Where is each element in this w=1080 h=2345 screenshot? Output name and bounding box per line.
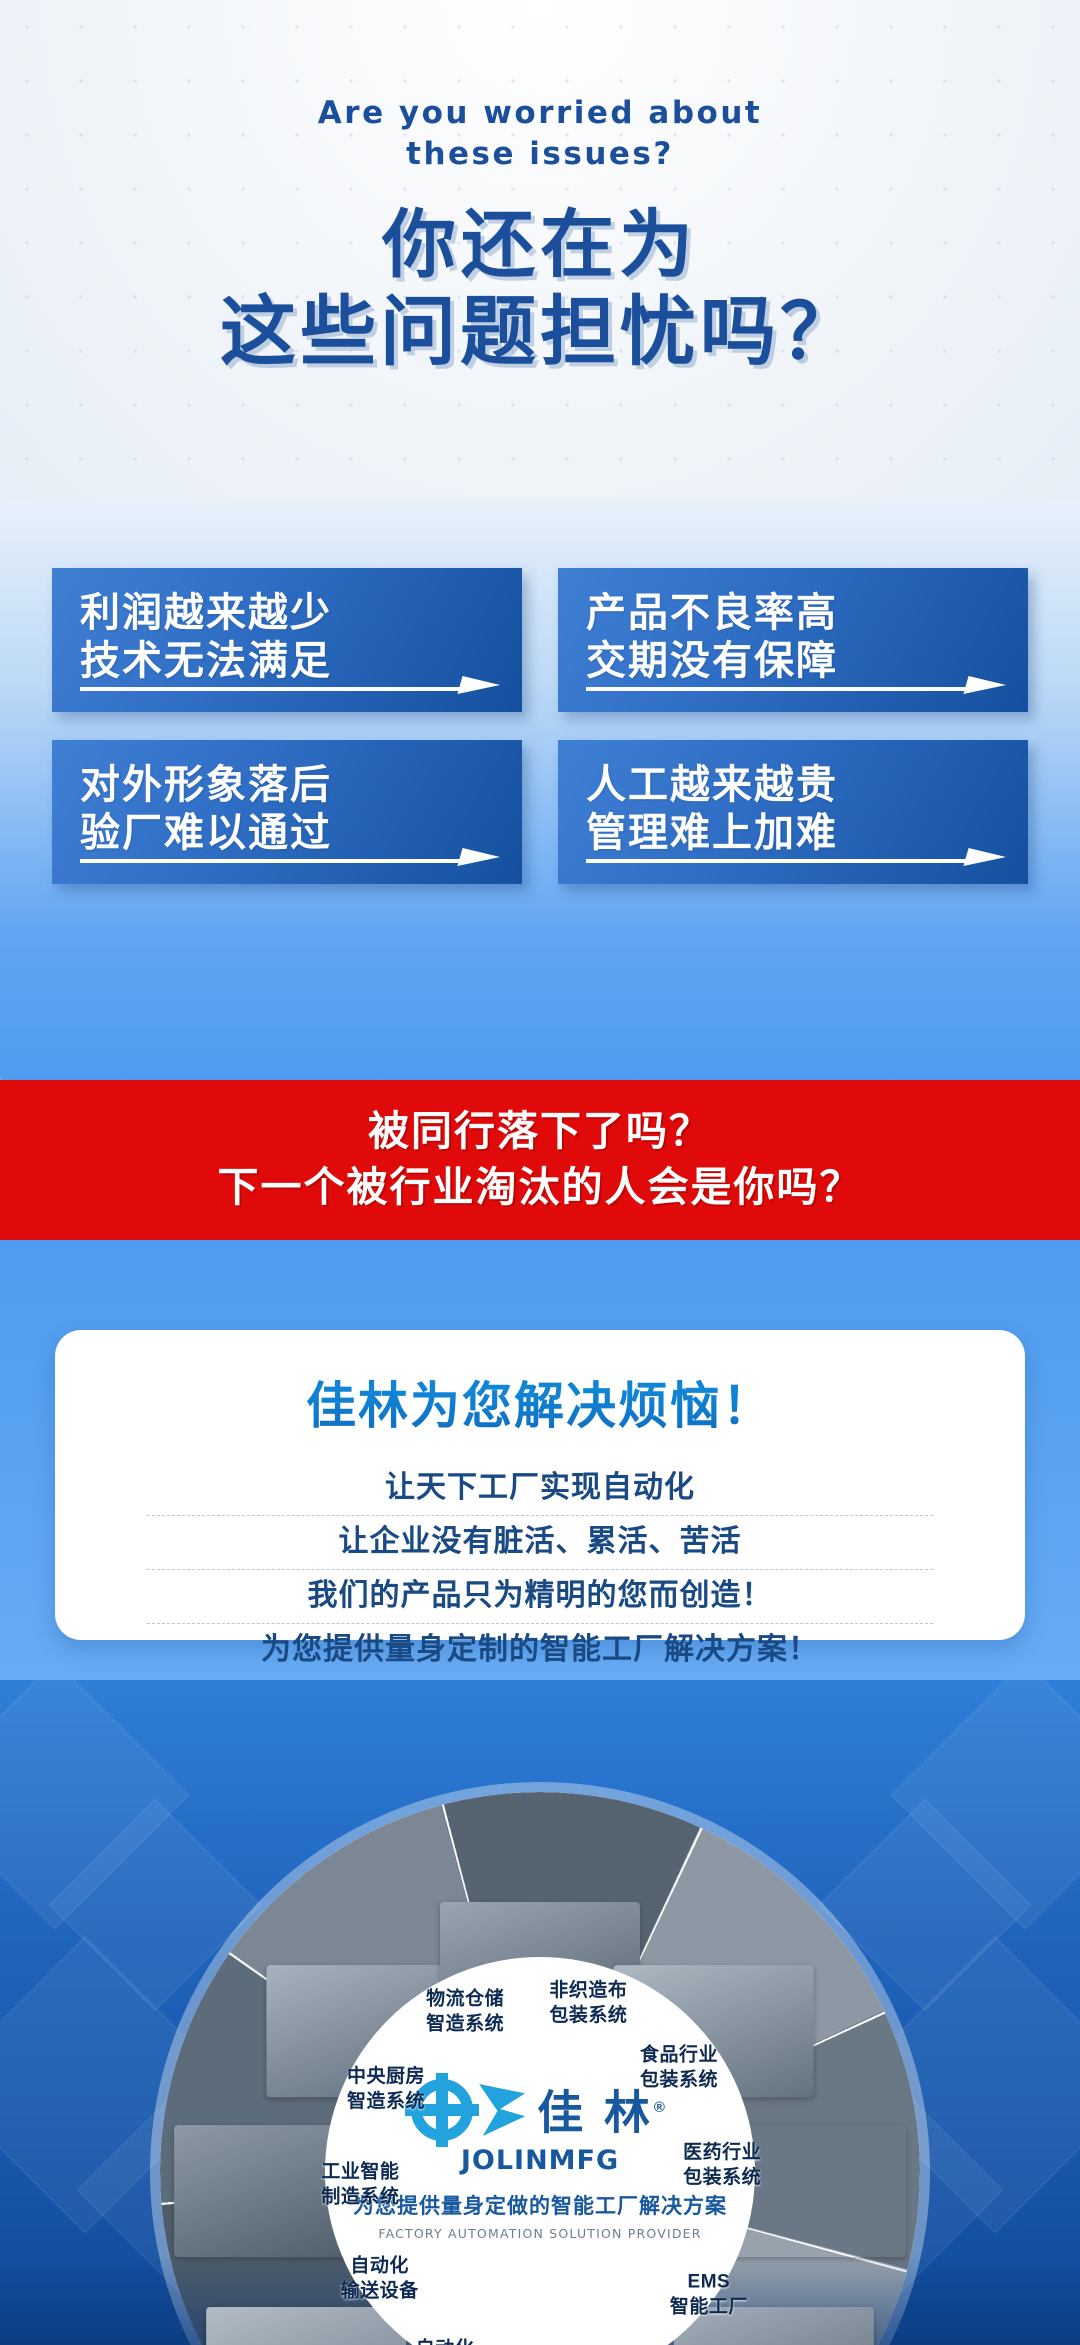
wheel-segment-5-line-2: 制造系统 (235, 2184, 485, 2209)
wheel-segment-1-line-2: 智造系统 (261, 2089, 511, 2114)
solution-card-section: 佳林为您解决烦恼！ 让天下工厂实现自动化 让企业没有脏活、累活、苦活 我们的产品… (0, 1240, 1080, 1680)
wheel-segment-1[interactable]: 中央厨房 智造系统 (261, 2064, 511, 2114)
red-banner-line-1: 被同行落下了吗？ (0, 1080, 1080, 1159)
problem-box-3[interactable]: 对外形象落后 验厂难以通过 (52, 740, 522, 884)
wheel-segment-7-line-1: 自动化 (255, 2254, 505, 2279)
logo-chinese-text: 佳 林 (537, 2086, 654, 2138)
wheel-segment-3-line-2: 包装系统 (463, 2003, 713, 2028)
problem-box-1[interactable]: 利润越来越少 技术无法满足 (52, 568, 522, 712)
wheel-segment-5[interactable]: 工业智能 制造系统 (235, 2159, 485, 2209)
solution-line-1: 让天下工厂实现自动化 (147, 1462, 933, 1516)
red-banner-section: 被同行落下了吗？ 下一个被行业淘汰的人会是你吗？ (0, 1080, 1080, 1240)
wheel-segment-7[interactable]: 自动化 输送设备 (255, 2254, 505, 2304)
chinese-heading-line-2: 这些问题担忧吗？ (0, 289, 1080, 377)
wheel-segment-6[interactable]: 医药行业 包装系统 (597, 2140, 847, 2190)
red-banner-line-2: 下一个被行业淘汰的人会是你吗？ (0, 1159, 1080, 1215)
header-content: Are you worried about these issues? 你还在为… (0, 0, 1080, 377)
english-heading-line-1: Are you worried about (0, 93, 1080, 134)
arrow-icon (586, 855, 1006, 867)
solution-card: 佳林为您解决烦恼！ 让天下工厂实现自动化 让企业没有脏活、累活、苦活 我们的产品… (55, 1330, 1025, 1640)
problem-box-1-line-2: 技术无法满足 (80, 637, 496, 685)
header-section: Are you worried about these issues? 你还在为… (0, 0, 1080, 500)
wheel-segment-8[interactable]: 自动化 包装设备 (320, 2337, 570, 2345)
wheel-segment-4-line-1: 食品行业 (554, 2042, 804, 2067)
wheel-segment-4-line-2: 包装系统 (554, 2067, 804, 2092)
problem-box-3-line-2: 验厂难以通过 (80, 809, 496, 857)
wheel-segment-9-line-1: EMS (584, 2270, 834, 2295)
chinese-heading-line-1: 你还在为 (0, 201, 1080, 289)
solution-card-title: 佳林为您解决烦恼！ (55, 1330, 1025, 1438)
problem-box-3-line-1: 对外形象落后 (80, 761, 496, 809)
logo-tagline-english: FACTORY AUTOMATION SOLUTION PROVIDER (325, 2226, 755, 2241)
solution-line-4: 为您提供量身定制的智能工厂解决方案！ (147, 1624, 933, 1677)
wheel-segment-4[interactable]: 食品行业 包装系统 (554, 2042, 804, 2092)
wheel-segment-7-line-2: 输送设备 (255, 2279, 505, 2304)
problem-box-4-line-2: 管理难上加难 (586, 809, 1002, 857)
wheel-segment-8-line-1: 自动化 (320, 2337, 570, 2345)
solution-card-lines: 让天下工厂实现自动化 让企业没有脏活、累活、苦活 我们的产品只为精明的您而创造！… (55, 1462, 1025, 1677)
wheel-segment-3[interactable]: 非织造布 包装系统 (463, 1978, 713, 2028)
wheel-segment-5-line-1: 工业智能 (235, 2159, 485, 2184)
english-heading-line-2: these issues? (0, 134, 1080, 175)
english-heading: Are you worried about these issues? (0, 0, 1080, 175)
problem-box-2-line-2: 交期没有保障 (586, 637, 1002, 685)
registered-mark: ® (654, 2099, 669, 2116)
chinese-heading: 你还在为 这些问题担忧吗？ (0, 201, 1080, 377)
arrow-icon (80, 855, 500, 867)
solution-line-3: 我们的产品只为精明的您而创造！ (147, 1570, 933, 1624)
wheel-segment-1-line-1: 中央厨房 (261, 2064, 511, 2089)
wheel-segment-3-line-1: 非织造布 (463, 1978, 713, 2003)
problem-boxes-section: 利润越来越少 技术无法满足 产品不良率高 交期没有保障 对外形象落后 验厂难以通… (0, 500, 1080, 1080)
problem-box-1-line-1: 利润越来越少 (80, 589, 496, 637)
problem-box-2[interactable]: 产品不良率高 交期没有保障 (558, 568, 1028, 712)
problem-box-4[interactable]: 人工越来越贵 管理难上加难 (558, 740, 1028, 884)
wheel-section: 中央厨房 智造系统 物流仓储 智造系统 非织造布 包装系统 食品行业 包装系统 … (0, 1680, 1080, 2345)
wheel-segment-6-line-2: 包装系统 (597, 2165, 847, 2190)
arrow-icon (586, 683, 1006, 695)
wheel-segment-6-line-1: 医药行业 (597, 2140, 847, 2165)
wheel-segment-9-line-2: 智能工厂 (584, 2295, 834, 2320)
arrow-icon (80, 683, 500, 695)
problem-box-2-line-1: 产品不良率高 (586, 589, 1002, 637)
problem-box-4-line-1: 人工越来越贵 (586, 761, 1002, 809)
solution-line-2: 让企业没有脏活、累活、苦活 (147, 1516, 933, 1570)
wheel-segment-9[interactable]: EMS 智能工厂 (584, 2270, 834, 2320)
problem-boxes-grid: 利润越来越少 技术无法满足 产品不良率高 交期没有保障 对外形象落后 验厂难以通… (40, 500, 1040, 884)
